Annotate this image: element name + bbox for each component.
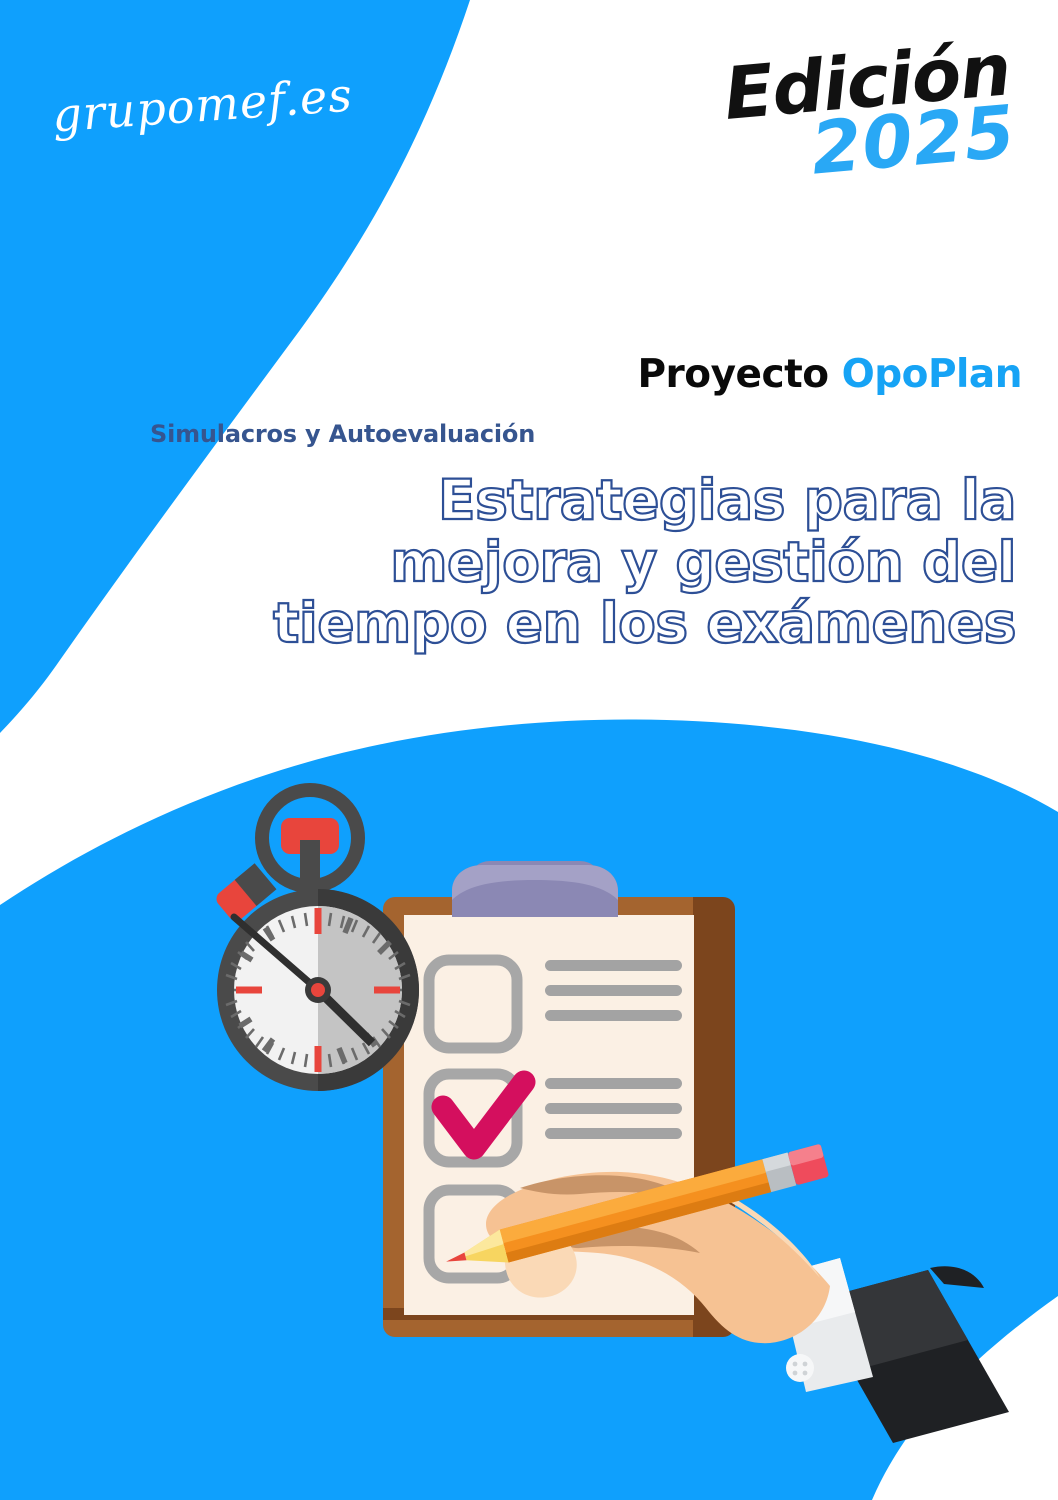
page-title: Estrategias para la mejora y gestión del… bbox=[0, 470, 1016, 655]
project-line: Proyecto OpoPlan bbox=[0, 352, 1022, 397]
background-waves bbox=[0, 0, 1058, 1500]
project-brand: OpoPlan bbox=[842, 352, 1022, 397]
page-title-line-3: tiempo en los exámenes bbox=[0, 593, 1016, 655]
edition-badge: Edición 2025 bbox=[721, 36, 1018, 189]
cover-page: grupomef.es Edición 2025 Proyecto OpoPla… bbox=[0, 0, 1058, 1500]
page-title-line-1: Estrategias para la bbox=[0, 470, 1016, 532]
bottom-blue-wave bbox=[0, 719, 1058, 1500]
project-label: Proyecto bbox=[637, 352, 841, 397]
subtitle: Simulacros y Autoevaluación bbox=[150, 420, 535, 448]
page-title-line-2: mejora y gestión del bbox=[0, 532, 1016, 594]
